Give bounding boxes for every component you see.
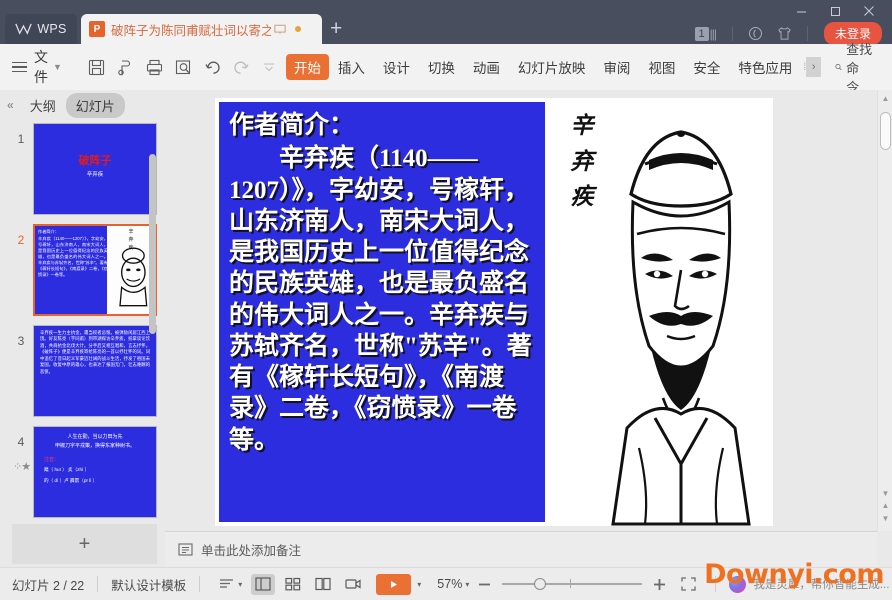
animation-star-icon: ⁘★ — [13, 460, 30, 473]
presenter-view-icon[interactable] — [341, 574, 365, 595]
wps-home-button[interactable]: WPS — [5, 14, 77, 44]
undo-icon[interactable] — [204, 56, 221, 78]
divider — [97, 576, 98, 592]
plus-icon: + — [79, 533, 91, 556]
slide-sorter-view-icon[interactable] — [281, 574, 305, 595]
tab-insert[interactable]: 插入 — [329, 54, 374, 80]
slide-thumbnail-list[interactable]: 1 破阵子 辛弃疾 2 作者简介： 辛弃疾（1140——1207）》，字幼安，号… — [12, 120, 157, 522]
new-tab-button[interactable]: + — [330, 20, 342, 38]
tab-count-badge[interactable]: 1 ||| — [695, 27, 716, 41]
tab-view[interactable]: 视图 — [639, 54, 684, 80]
tab-slideshow[interactable]: 幻灯片放映 — [509, 54, 595, 80]
thumb-subtitle: 辛弃疾 — [34, 170, 156, 178]
hamburger-menu-icon[interactable] — [12, 62, 27, 73]
list-item[interactable]: 3 辛弃疾一生力主抗金，遭当权者忌恨。被弹劾闲居江西上饶。好友陈亮（字同甫）到带… — [12, 322, 157, 422]
monitor-icon — [274, 24, 286, 35]
ribbon-right-icons: ? ⋮ ⌄ — [887, 59, 892, 76]
thumb-body: 辛弃疾一生力主抗金，遭当权者忌恨。被弹劾闲居江西上饶。好友陈亮（字同甫）到带湖探… — [34, 326, 156, 379]
ribbon-bar: 文件 ▼ 开始 插入 设计 切换 动画 幻灯片放映 — [0, 44, 892, 90]
divider — [807, 26, 808, 41]
find-command-button[interactable]: 查找命令... — [835, 39, 877, 96]
zoom-slider-handle[interactable] — [534, 578, 546, 590]
divider — [732, 26, 733, 41]
maximize-icon[interactable] — [818, 0, 852, 22]
reading-view-icon[interactable] — [311, 574, 335, 595]
add-slide-button[interactable]: + — [12, 524, 157, 564]
tab-review[interactable]: 审阅 — [594, 54, 639, 80]
list-item[interactable]: 1 破阵子 辛弃疾 — [12, 120, 157, 220]
minus-icon[interactable] — [477, 578, 492, 591]
play-slideshow-icon[interactable] — [376, 574, 411, 595]
zoom-slider-track[interactable] — [502, 583, 642, 585]
slide-heading: 作者简介： — [229, 110, 539, 141]
document-tab[interactable]: 破阵子为陈同甫赋壮词以寄之ppt — [81, 14, 322, 44]
sidebar-tab-slides[interactable]: 幻灯片 — [66, 93, 125, 118]
fit-to-window-icon[interactable] — [681, 577, 696, 591]
thumb-line-2: 申椒刀字平戎策，换得东家种树书。 — [34, 440, 156, 449]
list-item[interactable]: 4 ⁘★ 人生在勤，当以力田为先 申椒刀字平戎策，换得东家种树书。 注音： 麾（… — [12, 423, 157, 522]
unsaved-dot-icon — [295, 26, 301, 32]
thumb-text-block: 作者简介： 辛弃疾（1140——1207）》，字幼安，号稼轩，山东济南人，南宋大… — [35, 226, 111, 314]
xin-qiji-portrait-image[interactable]: 辛弃疾 — [549, 98, 773, 526]
collapse-double-left-icon[interactable]: « — [7, 98, 12, 112]
divider — [199, 576, 200, 592]
print-icon[interactable] — [146, 56, 163, 78]
template-name: 默认设计模板 — [111, 575, 186, 594]
chevron-down-icon[interactable]: ▼ — [53, 62, 62, 72]
previous-slide-icon[interactable]: ▼ — [878, 491, 892, 497]
outline-level-icon[interactable]: ▾ — [219, 578, 242, 591]
normal-view-icon[interactable] — [251, 574, 275, 595]
thumb-portrait-image: 辛弃疾 — [107, 226, 155, 314]
sidebar-header: « 大纲 幻灯片 — [0, 90, 165, 120]
slide-text-panel[interactable]: 作者简介： 辛弃疾（1140——1207）》，字幼安，号稼轩，山东济南人，南宋大… — [217, 100, 547, 524]
slide-body-text: 辛弃疾（1140——1207）》，字幼安，号稼轩，山东济南人，南宋大词人，是我国… — [229, 143, 539, 456]
thumb-pinyin-1: 麾（ huī ） 炙（zhì ） — [34, 463, 156, 474]
wps-logo-icon — [15, 22, 32, 36]
wps-label: WPS — [37, 22, 66, 36]
save-icon[interactable] — [88, 56, 105, 78]
print-preview-icon[interactable] — [175, 56, 192, 78]
customize-quick-access-icon[interactable] — [262, 56, 276, 78]
zoom-slider-midpoint — [570, 579, 571, 588]
scrollbar-thumb[interactable] — [880, 112, 891, 150]
watermark-text: Downyi.com — [704, 559, 884, 590]
file-menu-button[interactable]: 文件 — [34, 47, 48, 87]
tab-transition[interactable]: 切换 — [419, 54, 464, 80]
scroll-down-icon[interactable]: ▼ — [878, 514, 892, 523]
scroll-up-icon[interactable]: ▲ — [878, 94, 892, 103]
vertical-scrollbar[interactable]: ▲ ▼ ▲ ▼ — [877, 90, 892, 531]
minimize-icon[interactable] — [784, 0, 818, 22]
thumb-line-1: 人生在勤，当以力田为先 — [34, 427, 156, 440]
sidebar-scrollbar[interactable] — [149, 154, 156, 334]
find-command-label: 查找命令... — [846, 39, 877, 96]
ribbon-tabs: 开始 插入 设计 切换 动画 幻灯片放映 审阅 视图 安全 特色应用 — [286, 54, 802, 80]
tab-featured-apps[interactable]: 特色应用 — [729, 54, 801, 80]
slide-thumbnail-1[interactable]: 破阵子 辛弃疾 — [33, 123, 157, 215]
close-icon[interactable] — [852, 0, 886, 22]
zoom-level-label: 57% — [437, 577, 462, 591]
tab-security[interactable]: 安全 — [684, 54, 729, 80]
tab-design[interactable]: 设计 — [374, 54, 419, 80]
output-pdf-icon[interactable] — [117, 56, 134, 78]
portrait-illustration — [593, 98, 773, 526]
slide-thumbnail-3[interactable]: 辛弃疾一生力主抗金，遭当权者忌恨。被弹劾闲居江西上饶。好友陈亮（字同甫）到带湖探… — [33, 325, 157, 417]
slide-number: 1 — [14, 132, 28, 146]
zoom-chevron-down-icon[interactable]: ▾ — [465, 580, 469, 589]
thumb-body: 辛弃疾（1140——1207）》，字幼安，号稼轩，山东济南人，南宋大词人，是我国… — [38, 236, 108, 278]
slides-sidebar: « 大纲 幻灯片 1 破阵子 辛弃疾 2 作者简介： 辛弃疾（1140——120… — [0, 90, 165, 567]
redo-icon[interactable] — [233, 56, 250, 78]
slide-text-container: 作者简介： 辛弃疾（1140——1207）》，字幼安，号稼轩，山东济南人，南宋大… — [229, 110, 539, 456]
plus-icon[interactable] — [652, 578, 667, 591]
wps-presentation-window: WPS 破阵子为陈同甫赋壮词以寄之ppt + 1 — [0, 0, 892, 600]
slide-thumbnail-2[interactable]: 作者简介： 辛弃疾（1140——1207）》，字幼安，号稼轩，山东济南人，南宋大… — [33, 224, 157, 316]
next-slide-icon[interactable]: ▲ — [878, 503, 892, 509]
current-slide-canvas[interactable]: 作者简介： 辛弃疾（1140——1207）》，字幼安，号稼轩，山东济南人，南宋大… — [215, 98, 773, 526]
slide-editing-area: 作者简介： 辛弃疾（1140——1207）》，字幼安，号稼轩，山东济南人，南宋大… — [165, 90, 877, 567]
slide-number: 3 — [14, 334, 28, 348]
tshirt-skin-icon[interactable] — [777, 26, 792, 41]
notes-icon — [178, 542, 193, 557]
document-tab-label: 破阵子为陈同甫赋壮词以寄之ppt — [111, 20, 271, 39]
tab-count-number: 1 — [695, 27, 709, 41]
cloud-sync-icon[interactable] — [748, 26, 763, 41]
slide-number: 4 — [14, 435, 28, 449]
tab-home[interactable]: 开始 — [286, 54, 329, 80]
thumb-heading: 作者简介： — [38, 229, 108, 234]
help-question-icon[interactable]: ? — [887, 59, 892, 76]
slide-number: 2 — [14, 233, 28, 247]
search-icon — [835, 60, 842, 74]
sidebar-tab-outline[interactable]: 大纲 — [30, 96, 56, 115]
tab-overflow-icon[interactable]: ⁞ › — [803, 57, 821, 77]
window-controls — [784, 0, 886, 22]
slide-counter: 幻灯片 2 / 22 — [12, 575, 84, 594]
thumb-note-label: 注音： — [34, 449, 156, 463]
zoom-slider[interactable] — [502, 583, 642, 585]
title-bar: WPS 破阵子为陈同甫赋壮词以寄之ppt + 1 — [0, 0, 892, 44]
notes-placeholder: 单击此处添加备注 — [201, 540, 301, 559]
slide-thumbnail-4[interactable]: 人生在勤，当以力田为先 申椒刀字平戎策，换得东家种树书。 注音： 麾（ huī … — [33, 426, 157, 518]
play-options-chevron-down-icon[interactable]: ▾ — [417, 580, 421, 589]
powerpoint-file-icon — [89, 21, 105, 37]
thumb-title: 破阵子 — [34, 152, 156, 168]
tab-animation[interactable]: 动画 — [464, 54, 509, 80]
thumb-pinyin-2: 的（ dì ）卢 霹雳（pī lì ） — [34, 474, 156, 485]
list-item[interactable]: 2 作者简介： 辛弃疾（1140——1207）》，字幼安，号稼轩，山东济南人，南… — [12, 221, 157, 321]
tab-list-icon: ||| — [710, 27, 716, 41]
